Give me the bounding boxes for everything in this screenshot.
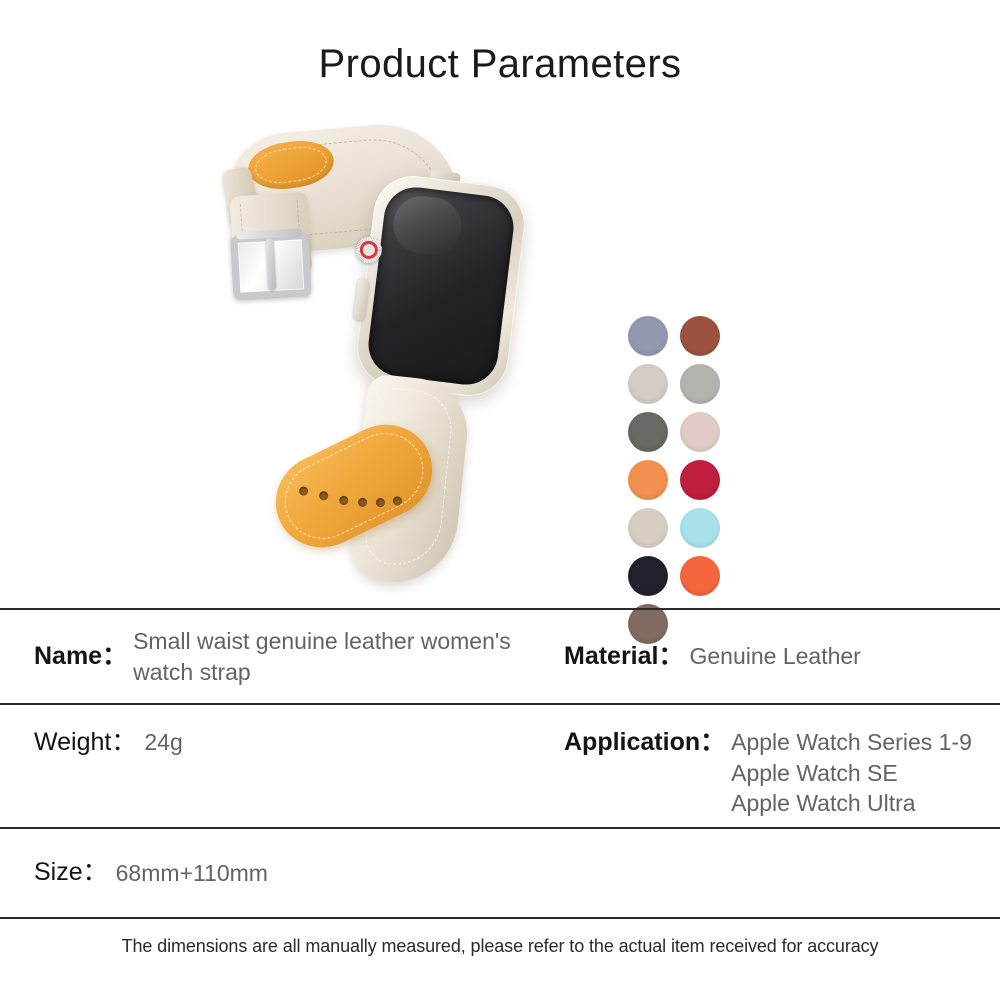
value-size: 68mm+110mm <box>108 858 268 889</box>
lower-strap <box>280 378 458 588</box>
table-cell-weight: Weight： 24g <box>0 705 556 827</box>
application-item: Apple Watch Series 1-9 <box>725 727 972 758</box>
disclaimer-note: The dimensions are all manually measured… <box>0 936 1000 957</box>
label-size: Size： <box>34 857 108 888</box>
strap-hole <box>318 490 330 502</box>
watch-case <box>353 172 530 401</box>
watch-screen <box>365 184 517 388</box>
strap-hole <box>357 496 369 508</box>
page-title: Product Parameters <box>0 42 1000 87</box>
apple-watch <box>353 172 530 401</box>
color-swatch-light-sky-blue[interactable] <box>680 508 720 548</box>
watch-strap-assembly <box>190 110 590 600</box>
label-application: Application： <box>564 727 725 758</box>
color-swatch-blush-pink[interactable] <box>680 412 720 452</box>
table-row: Name： Small waist genuine leather women'… <box>0 610 1000 705</box>
label-weight: Weight： <box>34 727 136 758</box>
table-cell-application: Application： Apple Watch Series 1-9Apple… <box>556 705 1000 827</box>
swatch-row <box>628 508 724 548</box>
color-swatch-orange-peach[interactable] <box>628 460 668 500</box>
table-row: Size： 68mm+110mm <box>0 829 1000 919</box>
label-material: Material： <box>564 641 683 672</box>
table-cell-material: Material： Genuine Leather <box>556 641 1000 672</box>
strap-hole <box>298 485 310 497</box>
color-swatch-coral-orange[interactable] <box>680 556 720 596</box>
product-photo <box>0 100 1000 600</box>
strap-hole <box>374 497 386 509</box>
swatch-row <box>628 412 724 452</box>
label-name: Name： <box>34 641 127 672</box>
table-row: Weight： 24g Application： Apple Watch Ser… <box>0 705 1000 829</box>
color-swatch-medium-gray[interactable] <box>680 364 720 404</box>
strap-hole <box>391 495 403 507</box>
color-swatch-sand-beige[interactable] <box>628 508 668 548</box>
swatch-row <box>628 364 724 404</box>
table-cell-name: Name： Small waist genuine leather women'… <box>0 626 556 687</box>
swatch-row <box>628 316 724 356</box>
color-swatch-dark-slate-gray[interactable] <box>628 412 668 452</box>
application-item: Apple Watch SE <box>725 758 972 789</box>
value-weight: 24g <box>136 727 182 758</box>
color-swatch-midnight-navy[interactable] <box>628 556 668 596</box>
buckle <box>230 232 311 300</box>
table-cell-size: Size： 68mm+110mm <box>0 857 1000 888</box>
product-parameters-table: Name： Small waist genuine leather women'… <box>0 608 1000 919</box>
strap-hole <box>338 494 350 506</box>
color-swatch-periwinkle-gray[interactable] <box>628 316 668 356</box>
color-swatch-rust-brown[interactable] <box>680 316 720 356</box>
value-name: Small waist genuine leather women's watc… <box>127 626 556 687</box>
application-list: Apple Watch Series 1-9Apple Watch SEAppl… <box>725 727 972 819</box>
swatch-row <box>628 556 724 596</box>
color-swatch-light-warm-gray[interactable] <box>628 364 668 404</box>
swatch-row <box>628 460 724 500</box>
value-material: Genuine Leather <box>683 641 860 672</box>
color-swatch-crimson-red[interactable] <box>680 460 720 500</box>
color-swatch-grid[interactable] <box>628 316 724 652</box>
application-item: Apple Watch Ultra <box>725 788 972 819</box>
